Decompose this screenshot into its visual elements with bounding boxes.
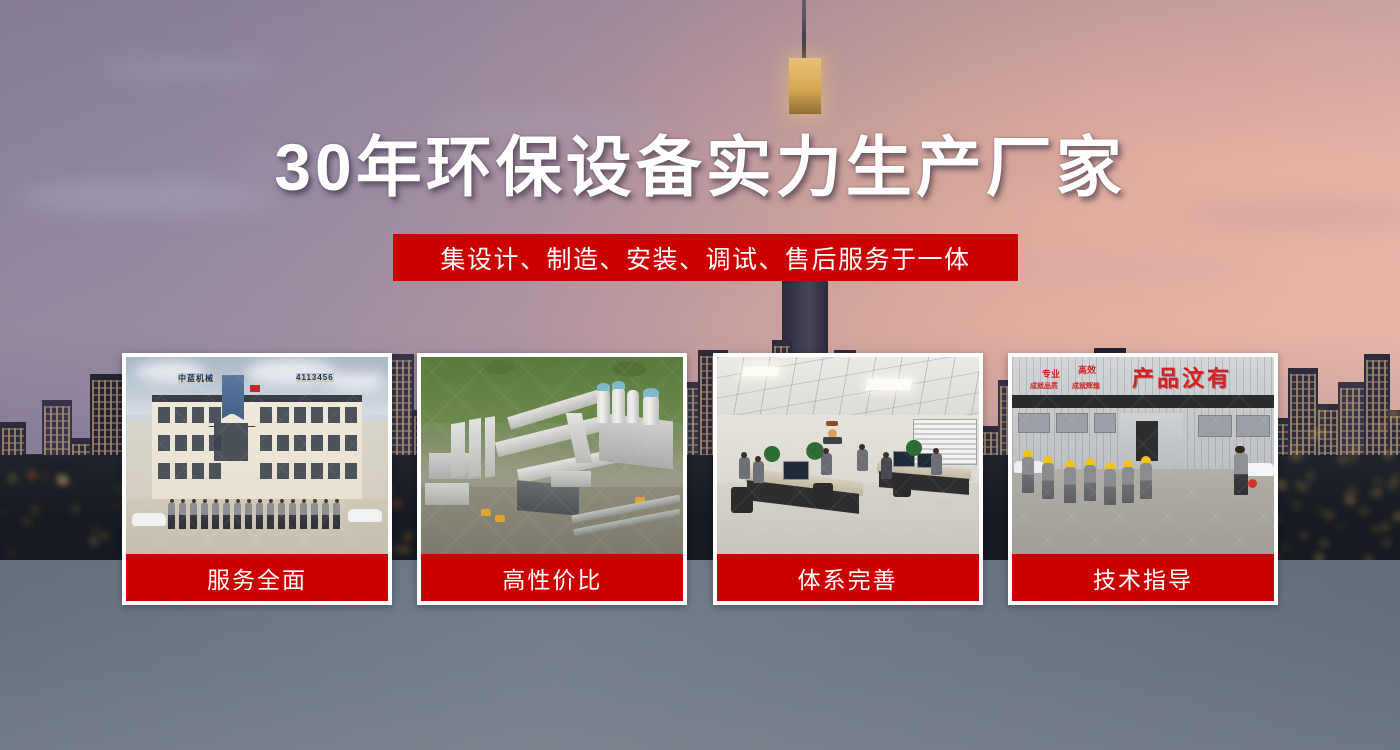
- card-photo-office-building: 中蓝机械 4113456: [126, 357, 388, 554]
- subtitle-text: 集设计、制造、安装、调试、售后服务于一体: [440, 240, 970, 276]
- card-caption: 体系完善: [717, 554, 979, 601]
- banner-root: 30年环保设备实力生产厂家 集设计、制造、安装、调试、售后服务于一体 中蓝机械 …: [0, 0, 1400, 750]
- feature-card-list: 中蓝机械 4113456 服务全面: [122, 353, 1278, 605]
- photo-watermark: [126, 357, 388, 554]
- feature-card[interactable]: 体系完善: [713, 353, 983, 605]
- photo-watermark: [717, 357, 979, 554]
- feature-card[interactable]: 产品汶有 专业 高效 成就品质 成就辉煌: [1008, 353, 1278, 605]
- photo-watermark: [1012, 357, 1274, 554]
- card-photo-office-interior: [717, 357, 979, 554]
- card-photo-industrial-plant: [421, 357, 683, 554]
- card-caption: 高性价比: [421, 554, 683, 601]
- tower-spire-tip: [803, 0, 805, 14]
- photo-watermark: [421, 357, 683, 554]
- card-caption: 技术指导: [1012, 554, 1274, 601]
- subtitle-bar: 集设计、制造、安装、调试、售后服务于一体: [393, 234, 1018, 281]
- feature-card[interactable]: 高性价比: [417, 353, 687, 605]
- tower-crown-lights: [789, 58, 821, 114]
- feature-card[interactable]: 中蓝机械 4113456 服务全面: [122, 353, 392, 605]
- card-caption: 服务全面: [126, 554, 388, 601]
- page-title: 30年环保设备实力生产厂家: [0, 133, 1400, 202]
- card-photo-worker-training: 产品汶有 专业 高效 成就品质 成就辉煌: [1012, 357, 1274, 554]
